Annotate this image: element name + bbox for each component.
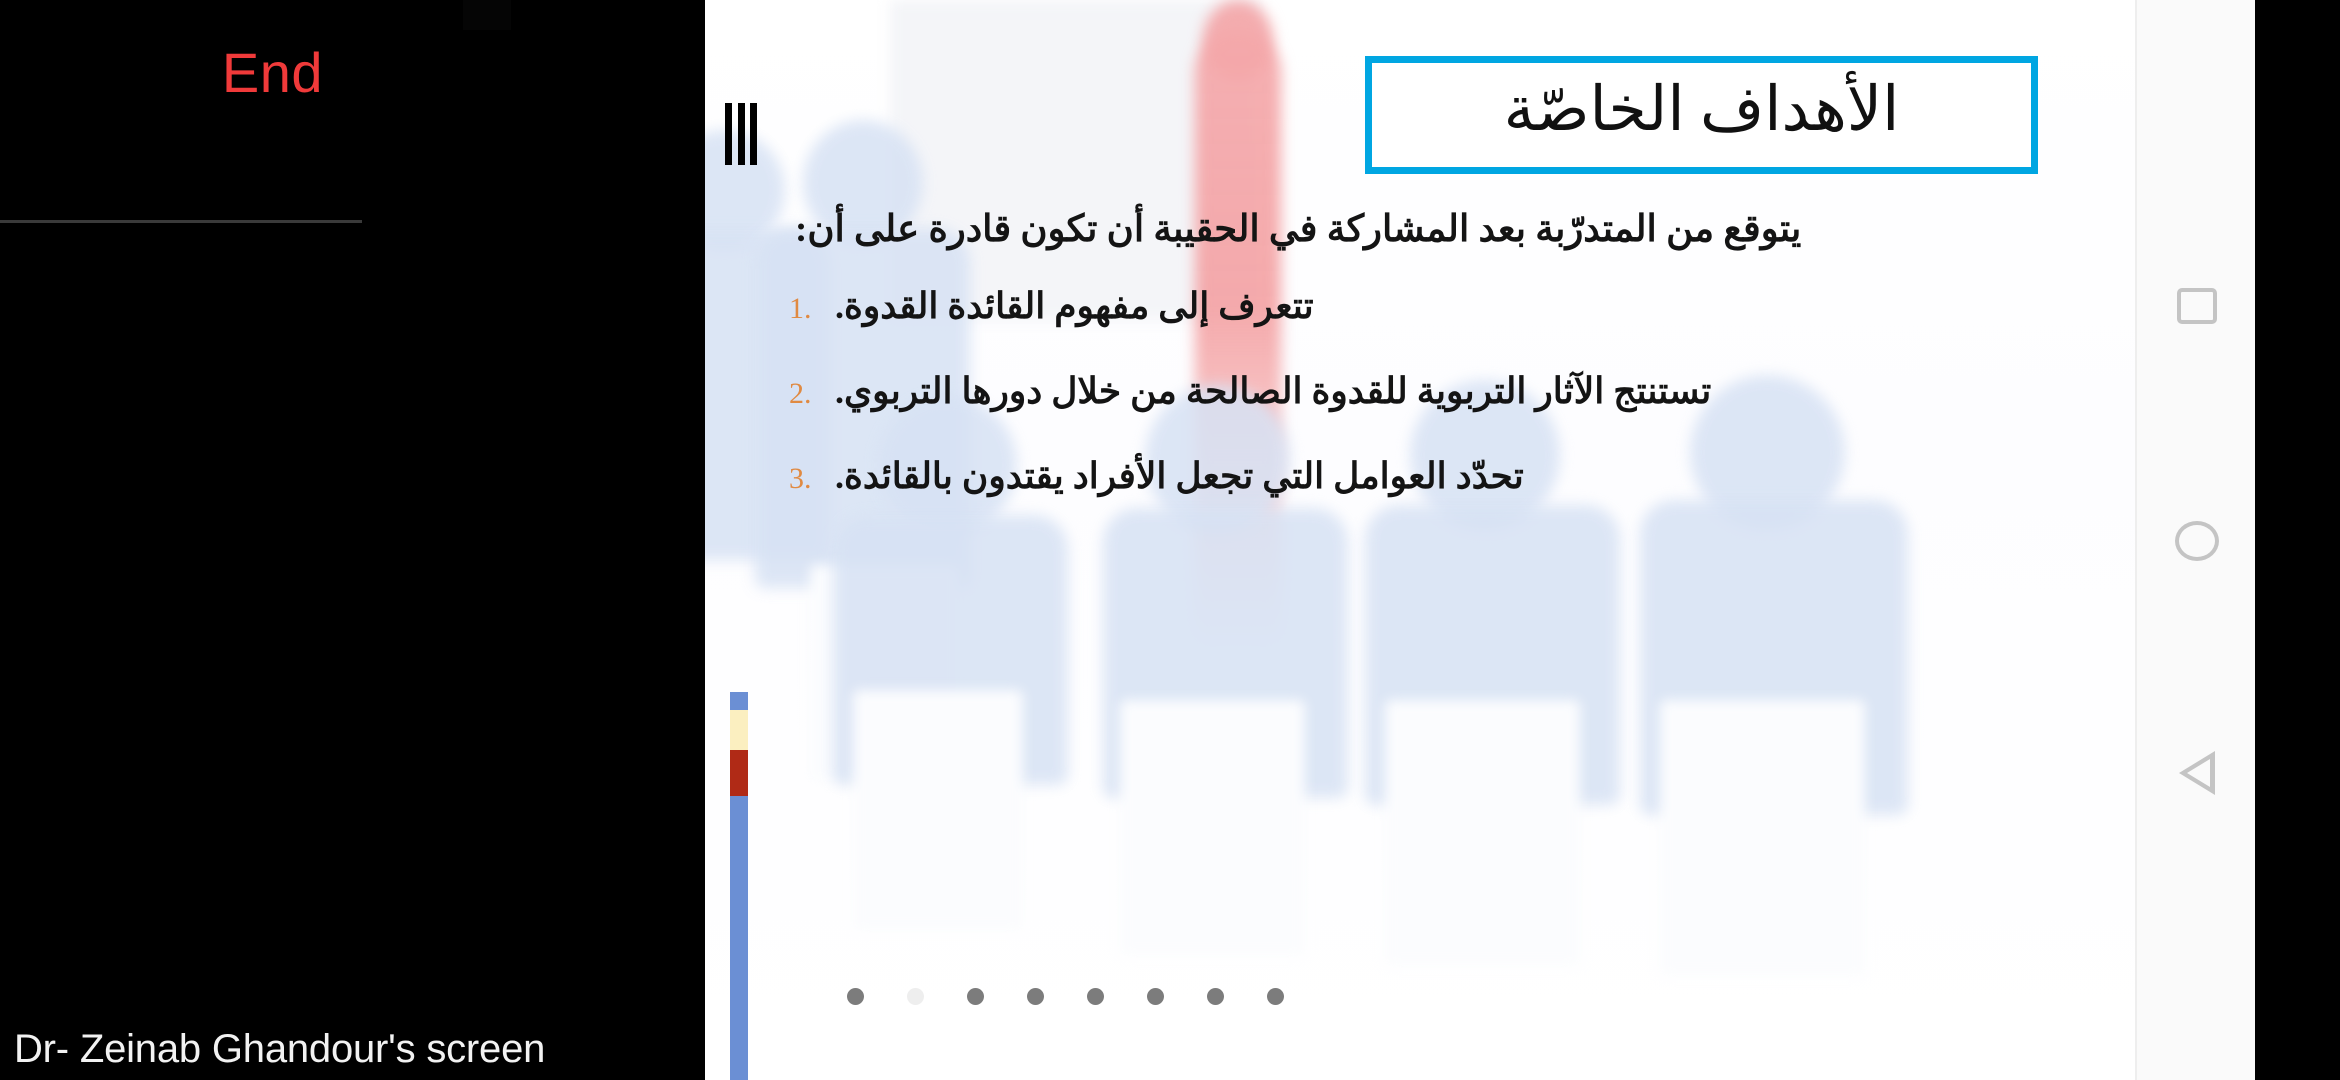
page-dot-1[interactable] [847,988,864,1005]
pause-bar-1 [725,103,732,165]
objective-number-1: 1. [789,289,835,328]
slide-accent-strip [730,692,748,1080]
page-dot-3[interactable] [967,988,984,1005]
objective-item-2: تستنتج الآثار التربوية للقدوة الصالحة من… [775,368,2075,415]
page-dot-5[interactable] [1087,988,1104,1005]
pause-bar-3 [750,103,757,165]
accent-strip-segment-3 [730,750,748,796]
slide-title-box: الأهداف الخاصّة [1365,56,2038,174]
page-dot-2[interactable] [907,988,924,1005]
android-navigation-bar [2135,0,2257,1080]
objective-number-2: 2. [789,374,835,413]
objective-item-1: تتعرف إلى مفهوم القائدة القدوة. 1. [775,283,2075,330]
decorative-dark-shape [463,0,511,30]
objectives-intro: يتوقع من المتدرّبة بعد المشاركة في الحقي… [775,205,2075,255]
screenshot-stage: End Dr- Zeinab Ghandour's screen [0,0,2340,1080]
slide-body: يتوقع من المتدرّبة بعد المشاركة في الحقي… [775,205,2075,537]
panel-divider [0,220,362,223]
home-button[interactable] [2166,510,2228,572]
objective-text-1: تتعرف إلى مفهوم القائدة القدوة. [835,283,1314,330]
accent-strip-segment-2 [730,710,748,750]
triangle-back-icon [2179,751,2215,795]
left-black-panel: End Dr- Zeinab Ghandour's screen [0,0,705,1080]
objective-number-3: 3. [789,459,835,498]
accent-strip-segment-1 [730,692,748,710]
audience-chair-3 [853,690,1023,930]
circle-home-icon [2175,521,2219,561]
screen-share-label: Dr- Zeinab Ghandour's screen [14,1027,545,1072]
objective-item-3: تحدّد العوامل التي تجعل الأفراد يقتدون ب… [775,453,2075,500]
objective-text-3: تحدّد العوامل التي تجعل الأفراد يقتدون ب… [835,453,1524,500]
page-dot-8[interactable] [1267,988,1284,1005]
pause-bar-2 [738,103,745,165]
audience-chair-5 [1385,700,1580,965]
objectives-list: تتعرف إلى مفهوم القائدة القدوة. 1. تستنت… [775,283,2075,499]
square-recents-icon [2177,288,2217,324]
back-button[interactable] [2166,742,2228,804]
audience-chair-4 [1120,700,1305,955]
end-label: End [0,42,545,104]
pause-bars-icon[interactable] [725,103,757,165]
page-dot-4[interactable] [1027,988,1044,1005]
accent-strip-segment-4 [730,796,748,1080]
slide-title: الأهداف الخاصّة [1504,79,1900,151]
page-dot-6[interactable] [1147,988,1164,1005]
recents-button[interactable] [2166,275,2228,337]
objective-text-2: تستنتج الآثار التربوية للقدوة الصالحة من… [835,368,1711,415]
page-dot-7[interactable] [1207,988,1224,1005]
shared-slide[interactable]: الأهداف الخاصّة يتوقع من المتدرّبة بعد ا… [705,0,2135,1080]
slide-page-dots[interactable] [847,988,1284,1005]
audience-chair-6 [1660,700,1865,975]
right-black-panel [2255,0,2340,1080]
